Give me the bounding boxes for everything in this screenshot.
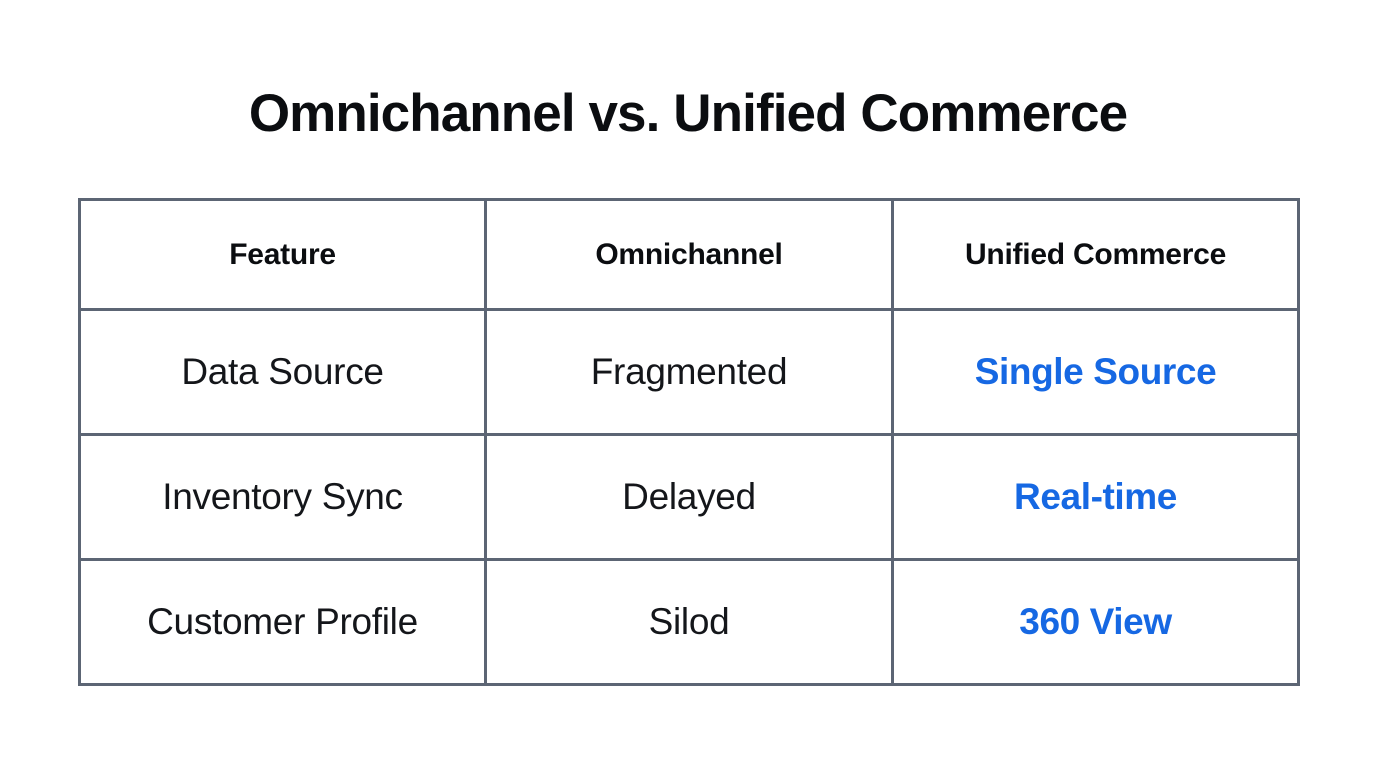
table-row: Customer Profile Silod 360 View xyxy=(80,560,1299,685)
cell-feature: Data Source xyxy=(80,310,486,435)
column-header-feature-label: Feature xyxy=(81,237,484,273)
cell-omnichannel-label: Fragmented xyxy=(487,350,891,394)
cell-omnichannel-label: Delayed xyxy=(487,475,891,519)
slide-canvas: Omnichannel vs. Unified Commerce Feature… xyxy=(0,0,1376,768)
column-header-omnichannel-label: Omnichannel xyxy=(487,237,891,273)
table-body: Data Source Fragmented Single Source Inv… xyxy=(80,310,1299,685)
column-header-unified-commerce: Unified Commerce xyxy=(893,200,1299,310)
cell-feature: Inventory Sync xyxy=(80,435,486,560)
column-header-unified-commerce-label: Unified Commerce xyxy=(894,237,1297,273)
page-title: Omnichannel vs. Unified Commerce xyxy=(0,80,1376,148)
cell-unified-commerce-label: Single Source xyxy=(894,350,1297,394)
cell-unified-commerce: Real-time xyxy=(893,435,1299,560)
comparison-table: Feature Omnichannel Unified Commerce Dat… xyxy=(78,198,1300,686)
cell-omnichannel-label: Silod xyxy=(487,600,891,644)
column-header-feature: Feature xyxy=(80,200,486,310)
cell-feature: Customer Profile xyxy=(80,560,486,685)
cell-feature-label: Inventory Sync xyxy=(81,475,484,519)
table-row: Inventory Sync Delayed Real-time xyxy=(80,435,1299,560)
table-header-row: Feature Omnichannel Unified Commerce xyxy=(80,200,1299,310)
column-header-omnichannel: Omnichannel xyxy=(486,200,893,310)
table-row: Data Source Fragmented Single Source xyxy=(80,310,1299,435)
table-header: Feature Omnichannel Unified Commerce xyxy=(80,200,1299,310)
cell-omnichannel: Fragmented xyxy=(486,310,893,435)
cell-unified-commerce-label: 360 View xyxy=(894,600,1297,644)
cell-omnichannel: Delayed xyxy=(486,435,893,560)
cell-omnichannel: Silod xyxy=(486,560,893,685)
cell-unified-commerce-label: Real-time xyxy=(894,475,1297,519)
cell-feature-label: Data Source xyxy=(81,350,484,394)
cell-unified-commerce: Single Source xyxy=(893,310,1299,435)
cell-unified-commerce: 360 View xyxy=(893,560,1299,685)
cell-feature-label: Customer Profile xyxy=(81,600,484,644)
